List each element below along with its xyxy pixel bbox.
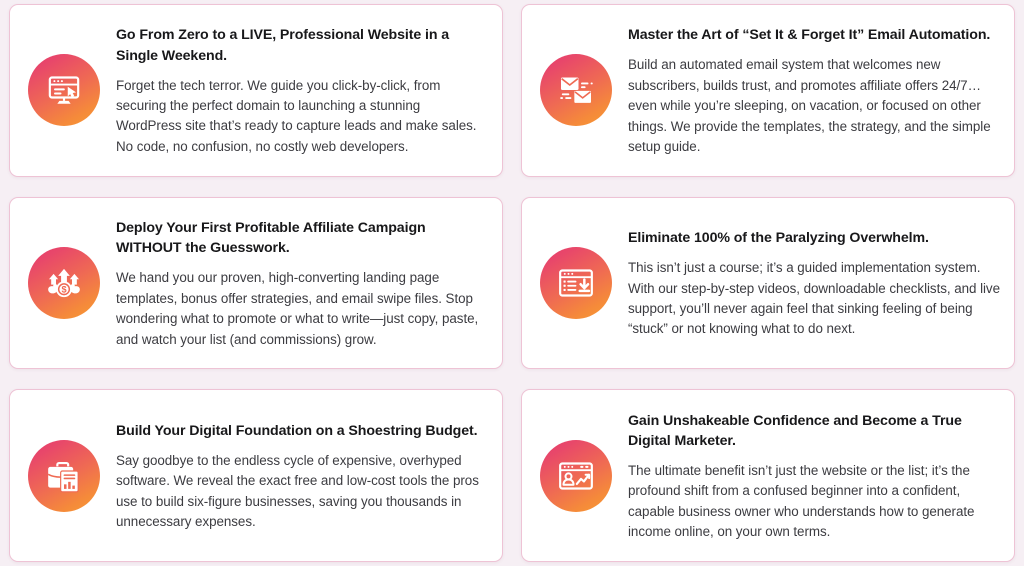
card-icon-wrapper	[540, 247, 612, 319]
benefit-card-email-automation: Master the Art of “Set It & Forget It” E…	[521, 4, 1015, 177]
card-body: Forget the tech terror. We guide you cli…	[116, 76, 488, 158]
money-growth-icon: $	[28, 247, 100, 319]
card-text: Gain Unshakeable Confidence and Become a…	[628, 409, 1000, 543]
card-icon-wrapper	[540, 440, 612, 512]
card-body: This isn’t just a course; it’s a guided …	[628, 258, 1000, 340]
card-body: Build an automated email system that wel…	[628, 55, 1000, 157]
benefit-card-affiliate-campaign: $ Deploy Your First Profitable Affiliate…	[9, 197, 503, 370]
card-icon-wrapper: $	[28, 247, 100, 319]
analytics-profile-icon	[540, 440, 612, 512]
benefits-grid: Go From Zero to a LIVE, Professional Web…	[0, 0, 1024, 566]
briefcase-report-icon	[28, 440, 100, 512]
card-text: Build Your Digital Foundation on a Shoes…	[116, 419, 488, 533]
svg-text:$: $	[61, 285, 66, 295]
card-icon-wrapper	[28, 440, 100, 512]
card-title: Master the Art of “Set It & Forget It” E…	[628, 25, 1000, 45]
card-text: Deploy Your First Profitable Affiliate C…	[116, 216, 488, 350]
benefit-card-overwhelm: Eliminate 100% of the Paralyzing Overwhe…	[521, 197, 1015, 370]
benefit-card-shoestring-budget: Build Your Digital Foundation on a Shoes…	[9, 389, 503, 562]
checklist-download-icon	[540, 247, 612, 319]
card-title: Gain Unshakeable Confidence and Become a…	[628, 411, 1000, 451]
card-text: Master the Art of “Set It & Forget It” E…	[628, 23, 1000, 157]
card-title: Go From Zero to a LIVE, Professional Web…	[116, 25, 488, 65]
card-icon-wrapper	[540, 54, 612, 126]
card-text: Eliminate 100% of the Paralyzing Overwhe…	[628, 226, 1000, 340]
benefit-card-confidence: Gain Unshakeable Confidence and Become a…	[521, 389, 1015, 562]
card-body: Say goodbye to the endless cycle of expe…	[116, 451, 488, 533]
card-body: We hand you our proven, high-converting …	[116, 268, 488, 350]
benefit-card-website: Go From Zero to a LIVE, Professional Web…	[9, 4, 503, 177]
website-monitor-icon	[28, 54, 100, 126]
card-text: Go From Zero to a LIVE, Professional Web…	[116, 23, 488, 157]
card-icon-wrapper	[28, 54, 100, 126]
card-body: The ultimate benefit isn’t just the webs…	[628, 461, 1000, 543]
email-automation-icon	[540, 54, 612, 126]
card-title: Eliminate 100% of the Paralyzing Overwhe…	[628, 228, 1000, 248]
card-title: Build Your Digital Foundation on a Shoes…	[116, 421, 488, 441]
card-title: Deploy Your First Profitable Affiliate C…	[116, 218, 488, 258]
